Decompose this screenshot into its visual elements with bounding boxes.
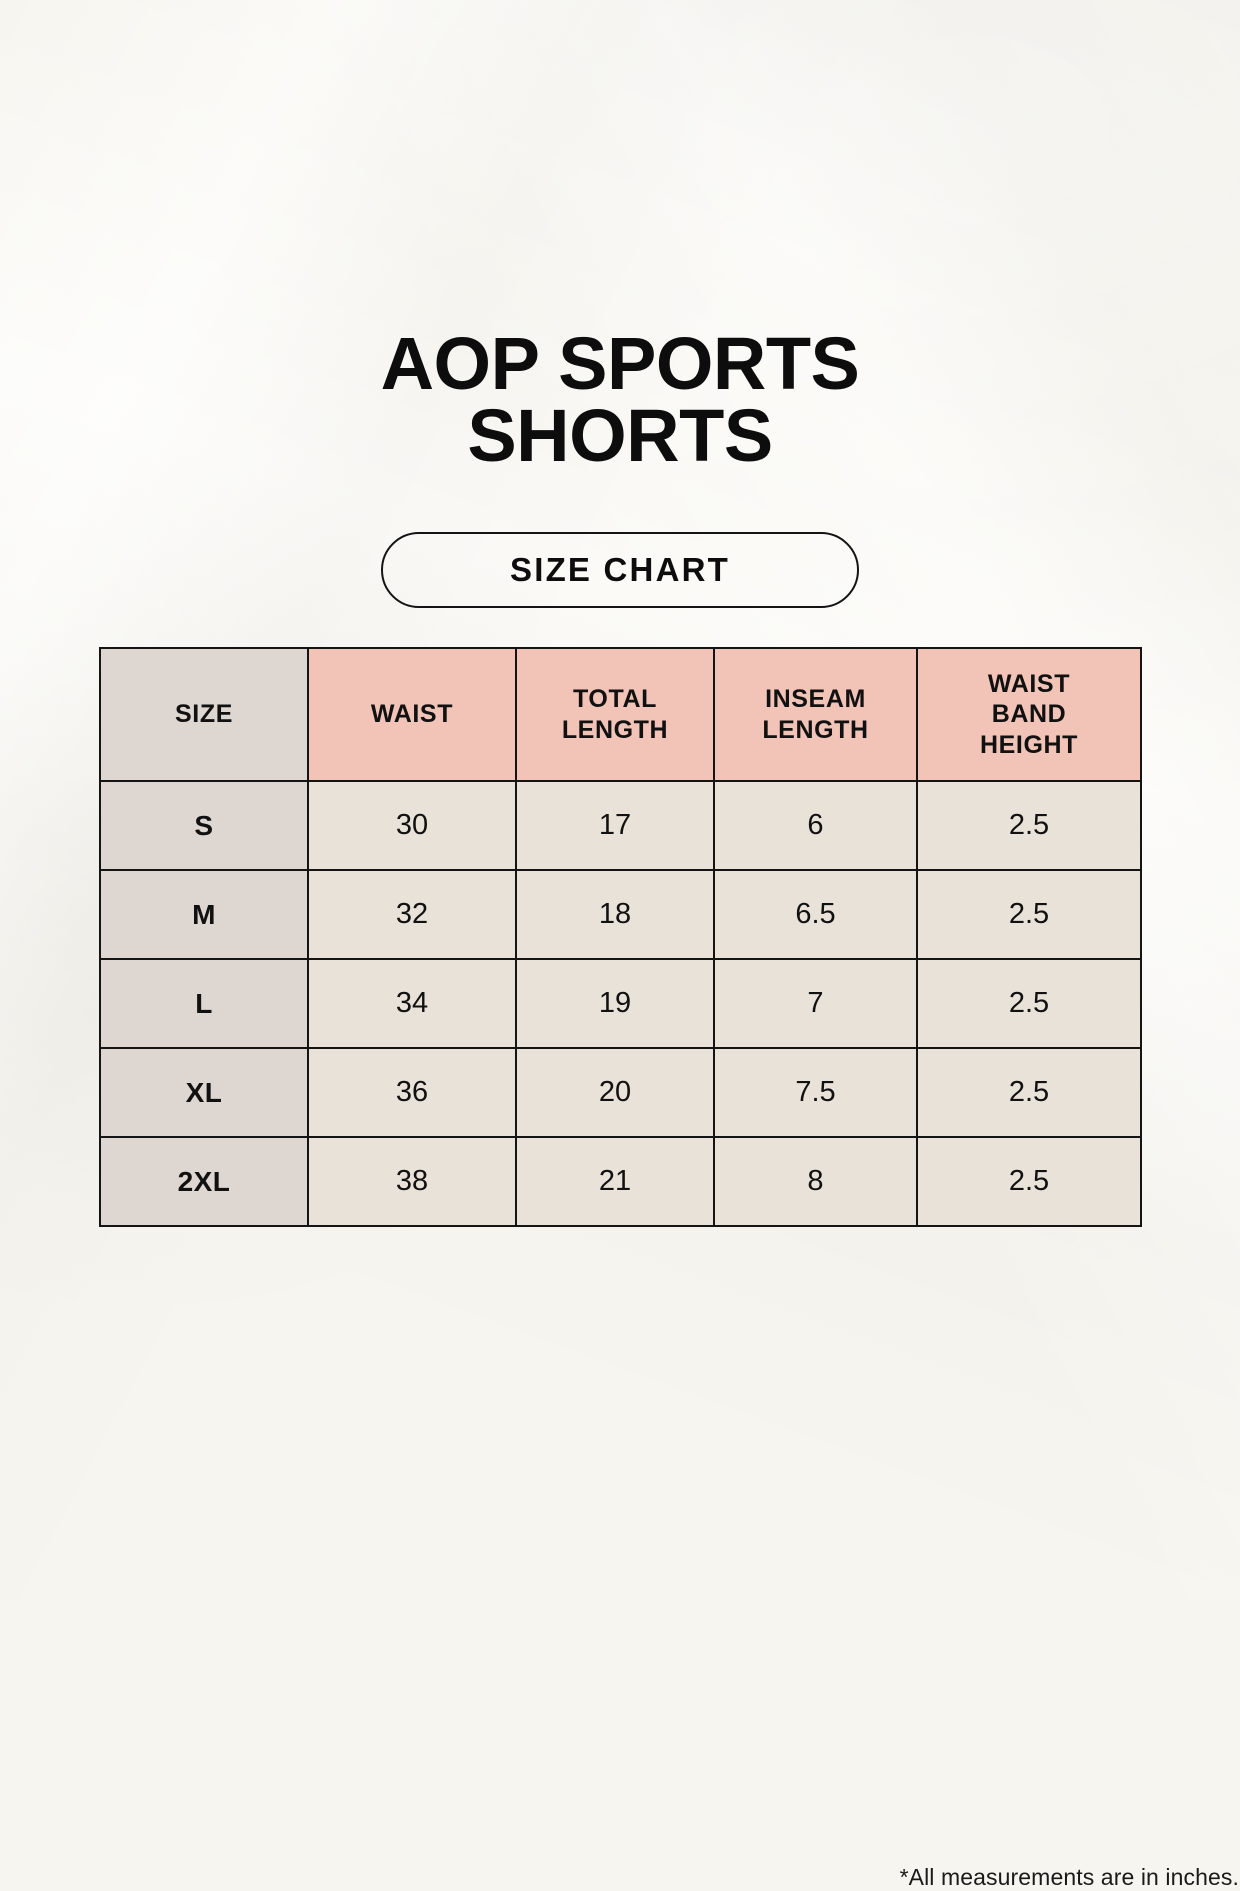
- column-header-total-length-line-1: TOTAL: [517, 684, 713, 715]
- cell-waist-band-height: 2.5: [917, 1048, 1141, 1137]
- cell-waist: 34: [308, 959, 516, 1048]
- cell-waist-band-height: 2.5: [917, 1137, 1141, 1226]
- column-header-total-length: TOTAL LENGTH: [516, 648, 714, 781]
- size-chart-badge: SIZE CHART: [381, 532, 859, 608]
- size-table-container: SIZE WAIST TOTAL LENGTH INSEAM LENGTH WA: [99, 647, 1140, 1227]
- column-header-inseam-length-line-2: LENGTH: [715, 715, 916, 746]
- column-header-size-line-1: SIZE: [101, 699, 307, 730]
- cell-size: XL: [100, 1048, 308, 1137]
- table-row: S 30 17 6 2.5: [100, 781, 1141, 870]
- cell-waist: 30: [308, 781, 516, 870]
- size-table-header: SIZE WAIST TOTAL LENGTH INSEAM LENGTH WA: [100, 648, 1141, 781]
- column-header-waist-band-height: WAIST BAND HEIGHT: [917, 648, 1141, 781]
- table-row: M 32 18 6.5 2.5: [100, 870, 1141, 959]
- size-chart-badge-label: SIZE CHART: [510, 551, 730, 589]
- cell-size: M: [100, 870, 308, 959]
- cell-total-length: 19: [516, 959, 714, 1048]
- cell-inseam-length: 6: [714, 781, 917, 870]
- size-table-body: S 30 17 6 2.5 M 32 18 6.5 2.5 L 34 19: [100, 781, 1141, 1226]
- cell-total-length: 21: [516, 1137, 714, 1226]
- cell-waist: 36: [308, 1048, 516, 1137]
- column-header-waist-line-1: WAIST: [309, 699, 515, 730]
- table-row: 2XL 38 21 8 2.5: [100, 1137, 1141, 1226]
- cell-waist: 32: [308, 870, 516, 959]
- page-title: AOP SPORTS SHORTS: [0, 328, 1240, 472]
- cell-total-length: 18: [516, 870, 714, 959]
- cell-total-length: 20: [516, 1048, 714, 1137]
- cell-waist: 38: [308, 1137, 516, 1226]
- size-chart-page: AOP SPORTS SHORTS SIZE CHART SIZE: [0, 0, 1240, 1600]
- column-header-waist-band-height-line-3: HEIGHT: [918, 730, 1140, 761]
- column-header-waist-band-height-line-2: BAND: [918, 699, 1140, 730]
- cell-inseam-length: 7: [714, 959, 917, 1048]
- measurements-footnote: *All measurements are in inches.: [99, 1864, 1239, 1891]
- cell-inseam-length: 8: [714, 1137, 917, 1226]
- cell-waist-band-height: 2.5: [917, 870, 1141, 959]
- table-header-row: SIZE WAIST TOTAL LENGTH INSEAM LENGTH WA: [100, 648, 1141, 781]
- table-row: XL 36 20 7.5 2.5: [100, 1048, 1141, 1137]
- cell-size: L: [100, 959, 308, 1048]
- column-header-total-length-line-2: LENGTH: [517, 715, 713, 746]
- title-block: AOP SPORTS SHORTS: [0, 328, 1240, 472]
- size-table: SIZE WAIST TOTAL LENGTH INSEAM LENGTH WA: [99, 647, 1142, 1227]
- column-header-inseam-length: INSEAM LENGTH: [714, 648, 917, 781]
- cell-size: 2XL: [100, 1137, 308, 1226]
- column-header-size: SIZE: [100, 648, 308, 781]
- cell-waist-band-height: 2.5: [917, 959, 1141, 1048]
- column-header-waist-band-height-line-1: WAIST: [918, 669, 1140, 700]
- cell-size: S: [100, 781, 308, 870]
- column-header-waist: WAIST: [308, 648, 516, 781]
- table-row: L 34 19 7 2.5: [100, 959, 1141, 1048]
- badge-container: SIZE CHART: [0, 532, 1240, 608]
- cell-inseam-length: 6.5: [714, 870, 917, 959]
- cell-inseam-length: 7.5: [714, 1048, 917, 1137]
- cell-waist-band-height: 2.5: [917, 781, 1141, 870]
- cell-total-length: 17: [516, 781, 714, 870]
- column-header-inseam-length-line-1: INSEAM: [715, 684, 916, 715]
